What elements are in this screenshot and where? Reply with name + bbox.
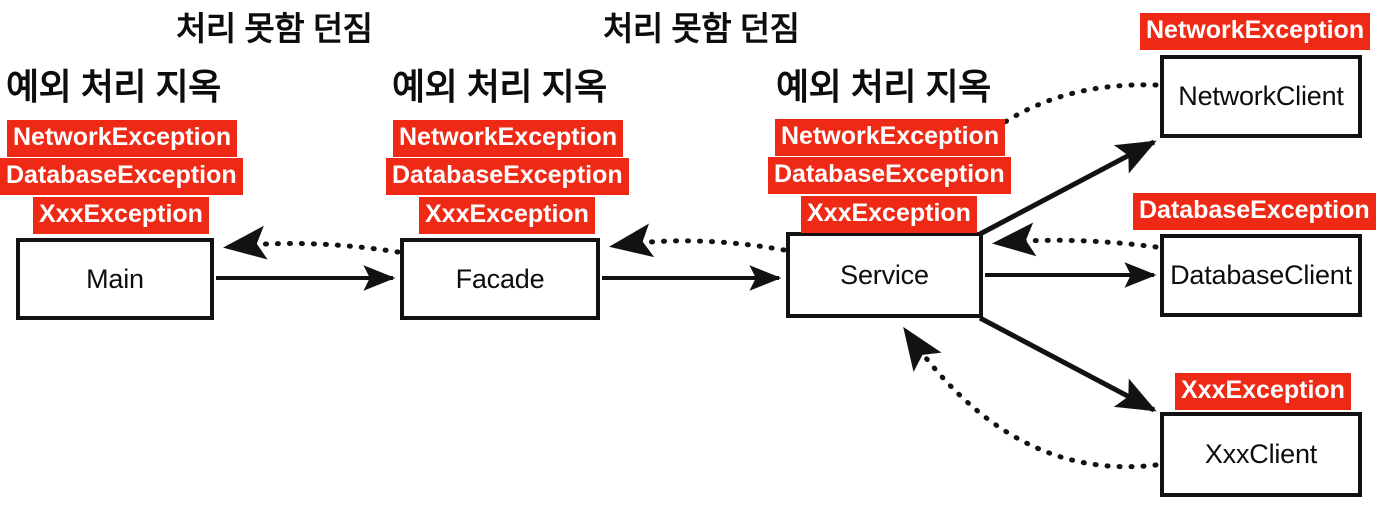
node-facade-label: Facade [456, 264, 545, 295]
caption-exception-hell-main: 예외 처리 지옥 [6, 58, 221, 110]
edge-service-to-facade [614, 241, 784, 250]
node-service[interactable]: Service [786, 232, 983, 318]
node-network-client[interactable]: NetworkClient [1160, 55, 1362, 138]
badge-facade-database-exception: DatabaseException [386, 158, 629, 195]
edge-databaseclient-to-service [997, 240, 1156, 247]
node-xxx-client[interactable]: XxxClient [1160, 412, 1362, 497]
node-database-client[interactable]: DatabaseClient [1160, 234, 1362, 317]
node-database-client-label: DatabaseClient [1170, 260, 1352, 291]
node-network-client-label: NetworkClient [1178, 81, 1343, 112]
badge-databaseclient-database-exception: DatabaseException [1133, 193, 1376, 230]
node-main-label: Main [86, 264, 144, 295]
badge-networkclient-network-exception: NetworkException [1140, 13, 1370, 50]
node-service-label: Service [840, 260, 929, 291]
edge-service-to-xxxclient [980, 318, 1154, 410]
badge-main-xxx-exception: XxxException [33, 197, 209, 234]
badge-service-network-exception: NetworkException [775, 119, 1005, 156]
node-xxx-client-label: XxxClient [1205, 439, 1317, 470]
badge-main-network-exception: NetworkException [7, 120, 237, 157]
caption-exception-hell-service: 예외 처리 지옥 [776, 58, 991, 110]
badge-service-xxx-exception: XxxException [801, 196, 977, 233]
edge-networkclient-to-service [996, 85, 1156, 128]
caption-throws-unhandled-1: 처리 못함 던짐 [176, 2, 373, 50]
badge-service-database-exception: DatabaseException [768, 157, 1011, 194]
node-facade[interactable]: Facade [400, 238, 600, 320]
caption-throws-unhandled-2: 처리 못함 던짐 [603, 2, 800, 50]
badge-xxxclient-xxx-exception: XxxException [1175, 373, 1351, 410]
diagram-canvas: 처리 못함 던짐 처리 못함 던짐 예외 처리 지옥 예외 처리 지옥 예외 처… [0, 0, 1380, 520]
edge-xxxclient-to-service [906, 331, 1156, 467]
badge-facade-network-exception: NetworkException [393, 120, 623, 157]
badge-main-database-exception: DatabaseException [0, 158, 243, 195]
node-main[interactable]: Main [16, 238, 214, 320]
caption-exception-hell-facade: 예외 처리 지옥 [392, 58, 607, 110]
badge-facade-xxx-exception: XxxException [419, 197, 595, 234]
edge-facade-to-main [228, 243, 398, 252]
